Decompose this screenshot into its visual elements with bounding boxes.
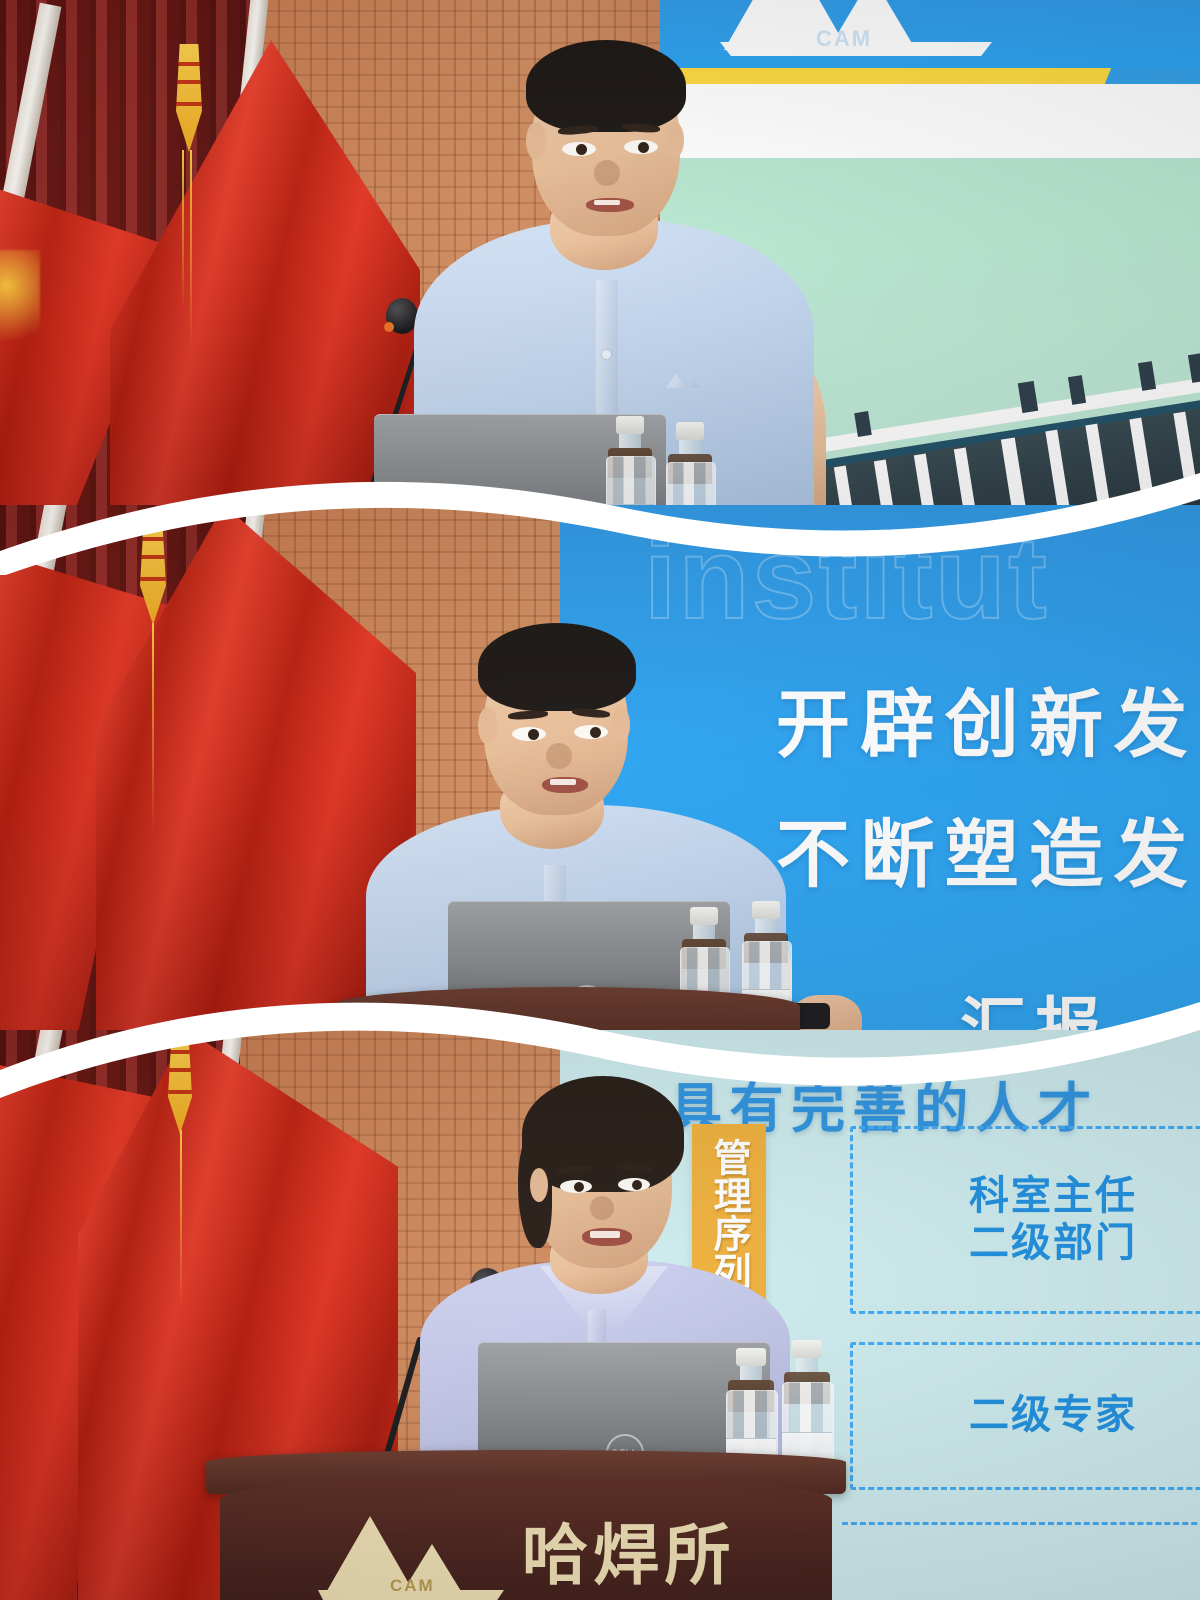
- ear-left: [478, 707, 498, 745]
- shirt-button: [602, 350, 611, 359]
- nose: [590, 1196, 614, 1220]
- panel-top: CAM: [0, 0, 1200, 540]
- tassel-string: [152, 623, 154, 833]
- hair: [478, 623, 636, 711]
- role-line-1: 科室主任: [969, 1173, 1137, 1220]
- cam-wordmark: CAM: [816, 26, 872, 52]
- ear-right: [612, 707, 630, 743]
- role-box-department: 科室主任 二级部门: [850, 1126, 1200, 1314]
- mouth: [586, 198, 634, 212]
- flag-emblem: [0, 250, 40, 370]
- nose: [594, 160, 620, 186]
- tassel-string: [190, 150, 192, 350]
- cam-wordmark: CAM: [390, 1576, 435, 1596]
- role-box-expert: 二级专家: [850, 1342, 1200, 1490]
- podium-logo: CAM 哈焊所: [324, 1502, 736, 1600]
- cam-logo-icon: CAM: [324, 1516, 504, 1600]
- eye-left: [512, 727, 546, 741]
- panel-bottom: 具有完善的人才 管理序列 专家 科室主任 二级部门 二级专家: [0, 1030, 1200, 1600]
- tassel-string: [180, 1130, 182, 1310]
- slide-line-1: 开辟创新发: [776, 665, 1198, 772]
- eye-right: [574, 725, 608, 739]
- eye-left: [560, 1180, 592, 1193]
- ear-left: [530, 1168, 548, 1202]
- collage-canvas: CAM: [0, 0, 1200, 1600]
- ear-left: [526, 122, 546, 160]
- podium: CAM 哈焊所: [206, 1450, 846, 1600]
- role-line-2: 二级部门: [969, 1220, 1137, 1267]
- role-box-expert-label: 二级专家: [969, 1392, 1137, 1439]
- mouth: [582, 1228, 632, 1246]
- microphone-indicator: [384, 322, 394, 332]
- tassel-string-2: [182, 150, 184, 310]
- mouth: [542, 777, 588, 793]
- slide-line-2: 不断塑造发: [776, 795, 1198, 902]
- institute-name: 哈焊所: [522, 1502, 736, 1600]
- panel-middle: institut 开辟创新发 不断塑造发 汇报: [0, 505, 1200, 1065]
- role-box-department-label: 科室主任 二级部门: [969, 1173, 1137, 1267]
- ear-right: [666, 122, 684, 158]
- eye-right: [618, 1178, 650, 1191]
- hair: [526, 40, 686, 132]
- slide-blue-band: [1107, 68, 1200, 84]
- dashed-divider: [842, 1522, 1200, 1525]
- eye-right: [624, 140, 658, 154]
- eye-left: [562, 142, 596, 156]
- nose: [546, 743, 572, 769]
